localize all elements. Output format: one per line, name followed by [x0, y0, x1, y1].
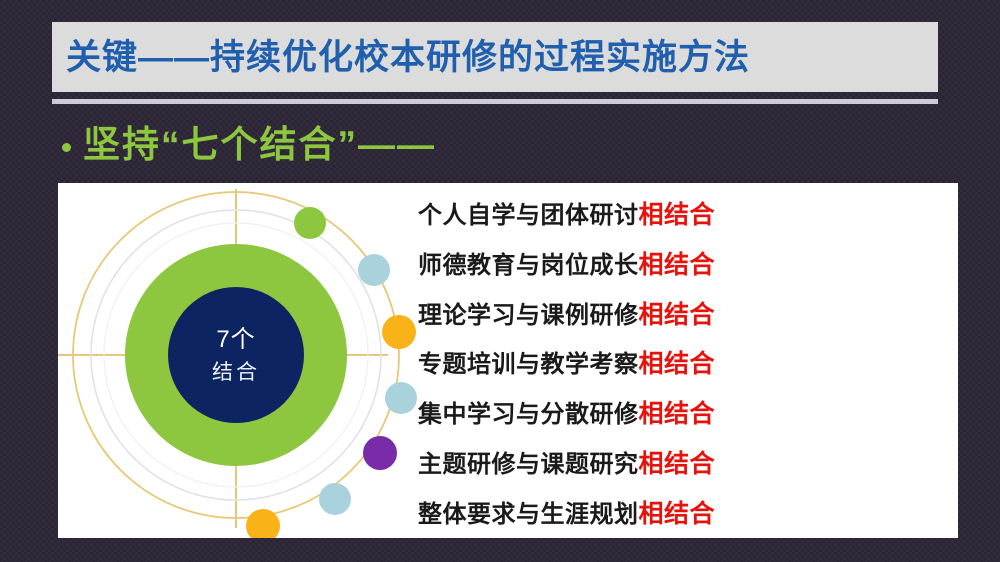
- list-item: 专题培训与教学考察 相结合: [418, 352, 938, 377]
- orbit-dot-4-light-blue[interactable]: [385, 382, 417, 414]
- center-label-line1: 7个: [216, 326, 255, 353]
- combination-accent-text: 相结合: [639, 253, 716, 278]
- combination-main-text: 专题培训与教学考察: [418, 353, 639, 377]
- center-label-line2: 结合: [212, 361, 260, 384]
- combination-main-text: 理论学习与课例研修: [418, 304, 639, 328]
- combination-accent-text: 相结合: [639, 402, 716, 427]
- combination-accent-text: 相结合: [639, 352, 716, 377]
- combination-list: 个人自学与团体研讨 相结合 师德教育与岗位成长 相结合 理论学习与课例研修 相结…: [418, 197, 938, 527]
- combination-main-text: 集中学习与分散研修: [418, 403, 639, 427]
- title-underline-divider: [52, 99, 938, 104]
- slide-canvas: 关键——持续优化校本研修的过程实施方法 坚持“七个结合”——: [0, 0, 1000, 562]
- content-panel: 7个 结合 个人自学与团体研讨 相结合 师德教育与岗位成长 相结合: [58, 183, 958, 538]
- combination-main-text: 个人自学与团体研讨: [418, 204, 639, 228]
- combination-accent-text: 相结合: [639, 303, 716, 328]
- list-item: 整体要求与生涯规划 相结合: [418, 502, 938, 527]
- combination-accent-text: 相结合: [639, 452, 716, 477]
- seven-combinations-diagram: 7个 结合: [58, 183, 448, 538]
- orbit-dot-5-purple[interactable]: [363, 436, 397, 470]
- list-item: 集中学习与分散研修 相结合: [418, 402, 938, 427]
- navy-core-disc: [168, 287, 304, 423]
- list-item: 理论学习与课例研修 相结合: [418, 303, 938, 328]
- orbit-dot-6-light-blue[interactable]: [319, 483, 351, 515]
- subtitle-text: 坚持“七个结合”——: [83, 126, 436, 163]
- subtitle-row: 坚持“七个结合”——: [62, 116, 436, 172]
- orbit-dot-2-light-blue[interactable]: [358, 254, 390, 286]
- bullet-icon: [62, 143, 71, 152]
- page-title: 关键——持续优化校本研修的过程实施方法: [52, 40, 750, 75]
- list-item: 个人自学与团体研讨 相结合: [418, 203, 938, 228]
- title-band: 关键——持续优化校本研修的过程实施方法: [52, 22, 938, 92]
- combination-main-text: 整体要求与生涯规划: [418, 503, 639, 527]
- list-item: 师德教育与岗位成长 相结合: [418, 253, 938, 278]
- combination-main-text: 主题研修与课题研究: [418, 453, 639, 477]
- orbit-dot-1-green[interactable]: [294, 207, 326, 239]
- list-item: 主题研修与课题研究 相结合: [418, 452, 938, 477]
- combination-accent-text: 相结合: [639, 203, 716, 228]
- combination-main-text: 师德教育与岗位成长: [418, 254, 639, 278]
- orbit-dot-3-amber[interactable]: [382, 315, 416, 349]
- combination-accent-text: 相结合: [639, 502, 716, 527]
